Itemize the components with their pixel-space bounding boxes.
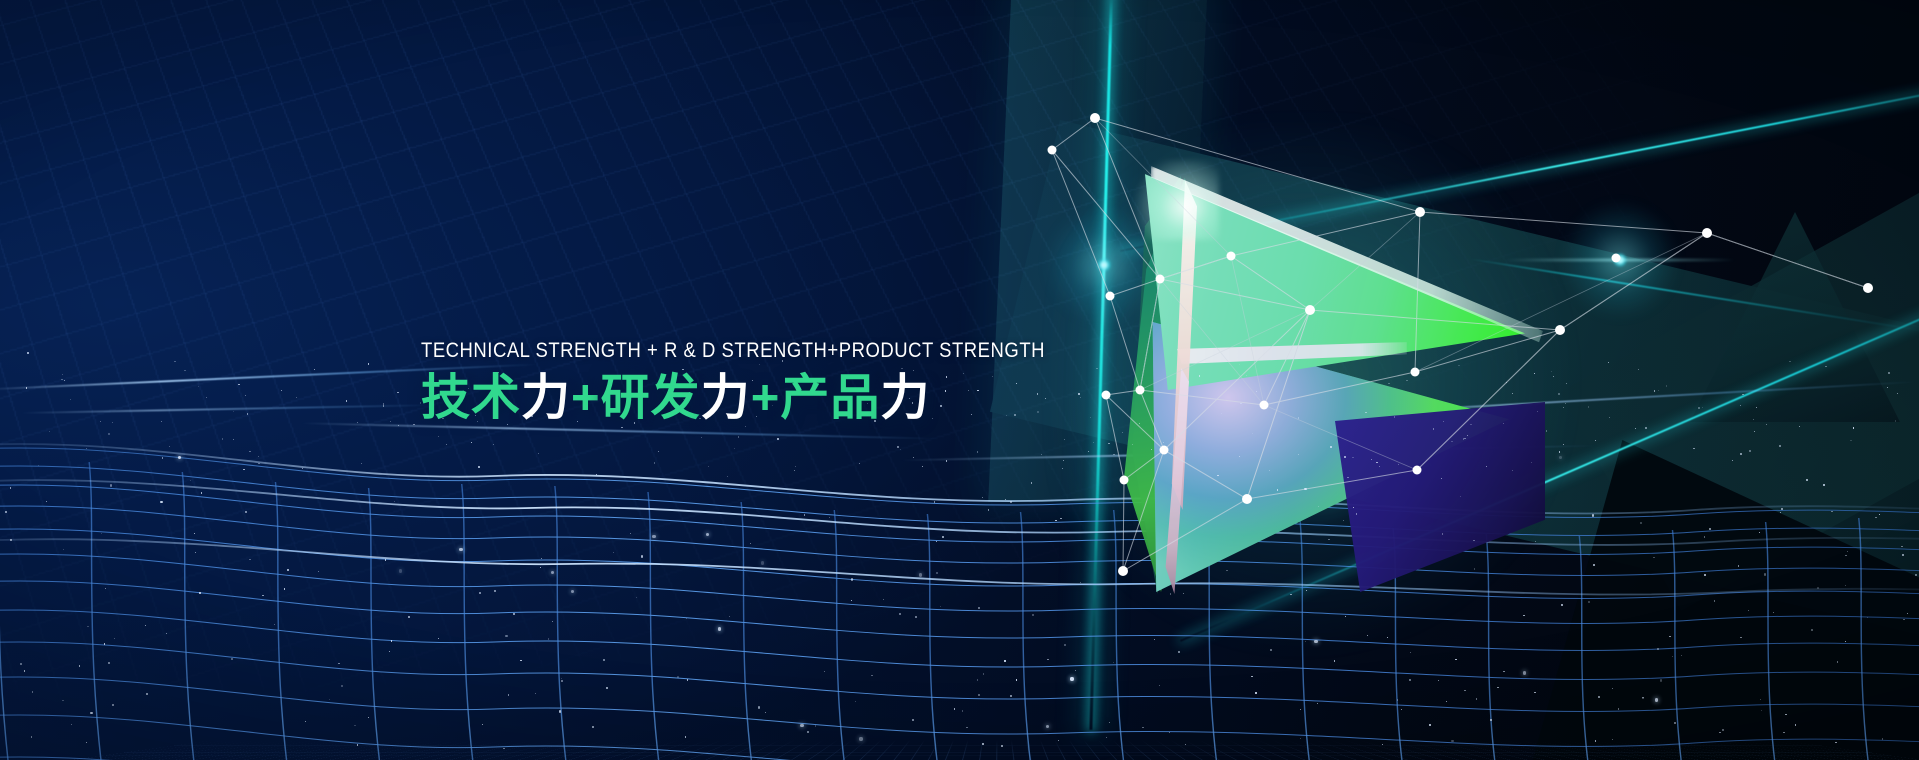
particle-dot	[1240, 403, 1241, 404]
particle-dot	[199, 592, 200, 593]
particle-dot	[281, 390, 282, 391]
particle-dot	[859, 737, 862, 740]
particle-dot	[1850, 440, 1851, 441]
eyebrow-text: TECHNICAL STRENGTH + R & D STRENGTH+PROD…	[421, 340, 967, 361]
particle-dot	[1558, 393, 1559, 394]
particle-dot	[160, 501, 162, 503]
particle-dot	[899, 613, 900, 614]
particle-dot	[988, 509, 989, 510]
title-segment-1: 力	[521, 371, 571, 425]
particle-dot	[936, 541, 937, 542]
particle-dot	[1170, 593, 1171, 594]
particle-dot	[1001, 745, 1003, 747]
particle-dot	[1398, 464, 1399, 465]
particle-dot	[1635, 428, 1636, 429]
particle-dot	[900, 449, 901, 450]
particle-dot	[915, 616, 917, 618]
particle-dot	[1748, 610, 1749, 611]
particle-dot	[63, 549, 64, 550]
particle-dot	[603, 659, 605, 661]
particle-dot	[222, 438, 223, 439]
particle-dot	[1055, 520, 1056, 521]
particle-dot	[357, 744, 358, 745]
particle-dot	[24, 670, 25, 671]
particle-dot	[112, 422, 113, 423]
particle-dot	[1256, 391, 1257, 392]
particle-dot	[1443, 421, 1444, 422]
particle-dot	[341, 685, 343, 687]
particle-dot	[1300, 738, 1301, 739]
title-segment-7: 力	[880, 371, 930, 425]
particle-dot	[1875, 517, 1876, 518]
particle-dot	[1401, 709, 1402, 710]
particle-dot	[478, 466, 480, 468]
particle-dot	[201, 492, 202, 493]
particle-dot	[10, 539, 11, 540]
particle-dot	[1780, 512, 1781, 513]
particle-dot	[913, 457, 914, 458]
particle-dot	[390, 421, 391, 422]
particle-dot	[1559, 451, 1560, 452]
particle-dot	[1783, 732, 1784, 733]
particle-dot	[1442, 533, 1443, 534]
particle-dot	[1060, 518, 1061, 519]
particle-dot	[493, 444, 494, 445]
particle-dot	[936, 572, 938, 574]
particle-dot	[112, 704, 114, 706]
particle-dot	[1742, 394, 1743, 395]
particle-dot	[1523, 615, 1524, 616]
particle-dot	[20, 663, 22, 665]
particle-dot	[1655, 698, 1658, 701]
particle-dot	[1845, 585, 1846, 586]
particle-dot	[1497, 687, 1498, 688]
particle-dot	[1433, 428, 1434, 429]
title-segment-6: 产品	[780, 371, 880, 425]
particle-dot	[383, 405, 384, 406]
particle-dot	[459, 548, 462, 551]
particle-dot	[1740, 453, 1741, 454]
particle-dot	[479, 592, 481, 594]
particle-dot	[1406, 380, 1407, 381]
particle-dot	[145, 625, 146, 626]
particle-dot	[1559, 456, 1562, 459]
particle-dot	[296, 397, 297, 398]
particle-dot	[919, 573, 922, 576]
particle-dot	[262, 595, 263, 596]
particle-dot	[26, 387, 27, 388]
particle-dot	[630, 533, 631, 534]
particle-dot	[79, 665, 80, 666]
particle-dot	[195, 552, 196, 553]
particle-dot	[90, 712, 92, 714]
particle-dot	[1464, 690, 1465, 691]
particle-dot	[1486, 466, 1487, 467]
particle-dot	[1760, 699, 1761, 700]
particle-dot	[871, 675, 872, 676]
particle-dot	[1534, 373, 1535, 374]
particle-dot	[408, 616, 410, 618]
particle-dot	[1835, 742, 1836, 743]
particle-dot	[1394, 416, 1395, 417]
particle-dot	[1666, 385, 1667, 386]
particle-dot	[1657, 648, 1659, 650]
particle-dot	[70, 399, 71, 400]
particle-dot	[1512, 393, 1513, 394]
particle-dot	[1551, 371, 1552, 372]
particle-dot	[1660, 679, 1662, 681]
particle-dot	[233, 411, 234, 412]
particle-dot	[1618, 708, 1619, 709]
particle-dot	[1847, 551, 1848, 552]
hero-banner: TECHNICAL STRENGTH + R & D STRENGTH+PROD…	[0, 0, 1919, 760]
particle-dot	[613, 552, 614, 553]
particle-dot	[1455, 659, 1456, 660]
particle-dot	[777, 438, 778, 439]
particle-dot	[1561, 604, 1562, 605]
particle-dot	[394, 501, 395, 502]
particle-dot	[1732, 460, 1733, 461]
particle-dot	[1045, 398, 1046, 399]
particle-dot	[1795, 724, 1796, 725]
particle-dot	[1867, 617, 1868, 618]
particle-dot	[1113, 662, 1114, 663]
particle-dot	[1122, 432, 1123, 433]
particle-dot	[658, 451, 659, 452]
particle-dot	[1595, 440, 1596, 441]
particle-dot	[1512, 470, 1513, 471]
particle-dot	[540, 567, 541, 568]
particle-dot	[206, 397, 207, 398]
particle-dot	[1588, 406, 1589, 407]
particle-dot	[982, 497, 983, 498]
particle-dot	[46, 501, 47, 502]
particle-dot	[559, 710, 561, 712]
particle-dot	[86, 742, 87, 743]
particle-dot	[552, 621, 553, 622]
particle-dot	[258, 456, 259, 457]
particle-dot	[284, 588, 285, 589]
particle-dot	[1251, 676, 1252, 677]
particle-dot	[1537, 411, 1538, 412]
particle-dot	[101, 533, 102, 534]
particle-dot	[1367, 635, 1368, 636]
particle-dot	[551, 571, 554, 574]
particle-dot	[1318, 506, 1319, 507]
particle-dot	[1096, 368, 1097, 369]
particle-dot	[1887, 387, 1888, 388]
particle-dot	[1907, 613, 1908, 614]
particle-dot	[71, 724, 72, 725]
particle-dot	[1010, 501, 1012, 503]
particle-dot	[1298, 454, 1299, 455]
particle-dot	[166, 633, 167, 634]
particle-dot	[438, 638, 439, 639]
particle-dot	[31, 736, 32, 737]
particle-dot	[761, 561, 764, 564]
particle-dot	[1410, 652, 1411, 653]
particle-dot	[1032, 614, 1033, 615]
particle-dot	[824, 671, 825, 672]
particle-dot	[1563, 444, 1564, 445]
particle-dot	[1446, 701, 1447, 702]
particle-dot	[1915, 574, 1916, 575]
particle-dot	[1704, 536, 1705, 537]
particle-dot	[982, 743, 984, 745]
particle-dot	[1825, 366, 1826, 367]
particle-dot	[1221, 413, 1222, 414]
particle-dot	[1470, 424, 1471, 425]
particle-dot	[1853, 427, 1854, 428]
particle-dot	[687, 679, 688, 680]
particle-dot	[1298, 417, 1299, 418]
particle-dot	[1799, 426, 1800, 427]
particle-dot	[233, 439, 234, 440]
particle-dot	[1046, 725, 1049, 728]
particle-dot	[346, 400, 347, 401]
particle-dot	[1031, 482, 1032, 483]
particle-dot	[1740, 405, 1741, 406]
particle-dot	[169, 446, 170, 447]
particle-dot	[592, 726, 594, 728]
particle-dot	[162, 457, 163, 458]
particle-dot	[305, 721, 306, 722]
particle-dot	[1806, 479, 1807, 480]
particle-dot	[1345, 616, 1346, 617]
particle-dot	[1070, 677, 1073, 680]
particle-dot	[677, 676, 679, 678]
particle-dot	[1903, 619, 1904, 620]
particle-dot	[1080, 582, 1081, 583]
particle-dot	[49, 431, 50, 432]
particle-dot	[1185, 744, 1186, 745]
particle-dot	[1154, 639, 1155, 640]
particle-dot	[1817, 587, 1819, 589]
particle-dot	[1451, 441, 1452, 442]
particle-dot	[1305, 641, 1306, 642]
particle-dot	[1365, 412, 1366, 413]
particle-dot	[807, 731, 809, 733]
particle-dot	[946, 460, 947, 461]
particle-dot	[1897, 393, 1898, 394]
particle-dot	[621, 427, 622, 428]
particle-dot	[1612, 739, 1613, 740]
particle-dot	[897, 446, 898, 447]
particle-dot	[804, 514, 805, 515]
particle-dot	[1789, 361, 1790, 362]
particle-dot	[1811, 629, 1813, 631]
headline-block: TECHNICAL STRENGTH + R & D STRENGTH+PROD…	[421, 340, 1041, 424]
particle-dot	[851, 600, 852, 601]
particle-dot	[314, 369, 315, 370]
particle-dot	[100, 421, 101, 422]
particle-dot	[1531, 462, 1532, 463]
particle-dot	[1080, 397, 1081, 398]
particle-dot	[1592, 514, 1594, 516]
particle-dot	[652, 535, 655, 538]
title-segment-0: 技术	[421, 371, 521, 425]
particle-dot	[1658, 390, 1659, 391]
particle-dot	[1178, 651, 1180, 653]
particle-dot	[912, 719, 914, 721]
particle-dot	[1064, 644, 1066, 646]
particle-dot	[1226, 570, 1227, 571]
particle-dot	[1608, 362, 1609, 363]
particle-dot	[38, 465, 39, 466]
particle-dot	[641, 555, 643, 557]
particle-dot	[368, 717, 369, 718]
particle-dot	[1753, 419, 1754, 420]
particle-dot	[701, 437, 702, 438]
particle-dot	[1467, 435, 1468, 436]
particle-dot	[829, 517, 830, 518]
particle-dot	[354, 725, 355, 726]
particle-dot	[1255, 692, 1256, 693]
particle-dot	[734, 448, 735, 449]
particle-dot	[706, 533, 709, 536]
particle-dot	[1041, 454, 1042, 455]
particle-dot	[471, 442, 472, 443]
particle-dot	[505, 635, 507, 637]
particle-dot	[977, 679, 978, 680]
particle-dot	[940, 606, 941, 607]
particle-dot	[391, 640, 392, 641]
particle-dot	[1058, 740, 1059, 741]
particle-dot	[1139, 423, 1140, 424]
particle-dot	[1709, 528, 1711, 530]
particle-dot	[718, 627, 721, 630]
particle-dot	[494, 590, 495, 591]
particle-dot	[190, 480, 191, 481]
particle-dot	[983, 673, 984, 674]
particle-dot	[1669, 636, 1670, 637]
particle-dot	[1503, 671, 1504, 672]
particle-dot	[1672, 656, 1673, 657]
particle-dot	[1785, 714, 1786, 715]
particle-dot	[1756, 407, 1757, 408]
particle-dot	[1779, 445, 1781, 447]
particle-dot	[1088, 451, 1089, 452]
particle-dot	[1654, 390, 1655, 391]
particle-dot	[10, 487, 11, 488]
particle-dot	[966, 727, 967, 728]
particle-dot	[438, 436, 439, 437]
particle-dot	[338, 663, 339, 664]
particle-dot	[1593, 564, 1595, 566]
particle-dot	[962, 710, 963, 711]
particle-dot	[329, 699, 330, 700]
particle-dot	[1901, 546, 1902, 547]
particle-dot	[1078, 393, 1079, 394]
particle-dot	[1566, 383, 1567, 384]
particle-dot	[446, 444, 447, 445]
particle-dot	[1674, 722, 1676, 724]
particle-dot	[1740, 637, 1741, 638]
particle-dot	[1441, 478, 1442, 479]
particle-dot	[161, 421, 162, 422]
particle-dot	[108, 433, 109, 434]
particle-dot	[977, 451, 978, 452]
particle-dot	[541, 558, 542, 559]
particle-dot	[1409, 679, 1411, 681]
particle-dot	[1693, 448, 1694, 449]
particle-dot	[1754, 431, 1755, 432]
particle-dot	[538, 453, 539, 454]
particle-dot	[231, 658, 233, 660]
particle-dot	[1142, 727, 1143, 728]
particle-dot	[32, 691, 33, 692]
particle-dot	[1304, 488, 1306, 490]
particle-dot	[1563, 407, 1564, 408]
particle-dot	[1681, 655, 1682, 656]
particle-dot	[1334, 660, 1335, 661]
particle-dot	[859, 463, 860, 464]
particle-dot	[1075, 670, 1076, 671]
particle-dot	[62, 700, 63, 701]
particle-dot	[1640, 522, 1642, 524]
particle-dot	[385, 559, 386, 560]
particle-dot	[302, 468, 303, 469]
particle-dot	[1506, 382, 1507, 383]
particle-dot	[1761, 710, 1762, 711]
particle-dot	[1473, 540, 1474, 541]
particle-dot	[1353, 507, 1354, 508]
particle-dot	[1490, 719, 1492, 721]
particle-dot	[258, 463, 259, 464]
particle-dot	[513, 613, 515, 615]
page-title: 技术力+研发力+产品力	[421, 373, 1041, 424]
particle-dot	[1113, 454, 1114, 455]
particle-dot	[243, 469, 244, 470]
particle-dot	[1277, 489, 1278, 490]
particle-dot	[245, 511, 246, 512]
particle-dot	[1902, 554, 1903, 555]
particle-dot	[750, 543, 751, 544]
particle-dot	[1595, 740, 1596, 741]
particle-dot	[1252, 433, 1253, 434]
particle-dot	[1239, 364, 1240, 365]
particle-dot	[978, 607, 980, 609]
particle-dot	[1199, 375, 1200, 376]
particle-dot	[1565, 403, 1566, 404]
particle-dot	[62, 374, 63, 375]
particle-dot	[738, 436, 739, 437]
particle-dot	[851, 578, 853, 580]
particle-dot	[61, 379, 62, 380]
particle-dot	[1347, 477, 1348, 478]
particle-dot	[287, 569, 288, 570]
particle-dot	[1702, 407, 1703, 408]
particle-dot	[1766, 424, 1767, 425]
particle-dot	[1764, 573, 1766, 575]
particle-dot	[194, 533, 195, 534]
particle-dot	[922, 466, 923, 467]
particle-dot	[1371, 459, 1372, 460]
particle-dot	[398, 425, 399, 426]
particle-dot	[318, 571, 319, 572]
particle-dot	[596, 474, 597, 475]
particle-dot	[1823, 484, 1824, 485]
particle-dot	[110, 484, 112, 486]
particle-dot	[146, 693, 148, 695]
particle-dot	[1269, 470, 1270, 471]
particle-dot	[238, 384, 239, 385]
particle-dot	[686, 618, 687, 619]
particle-dot	[198, 386, 199, 387]
particle-dot	[1464, 438, 1465, 439]
particle-dot	[1090, 417, 1091, 418]
particle-dot	[1151, 449, 1152, 450]
